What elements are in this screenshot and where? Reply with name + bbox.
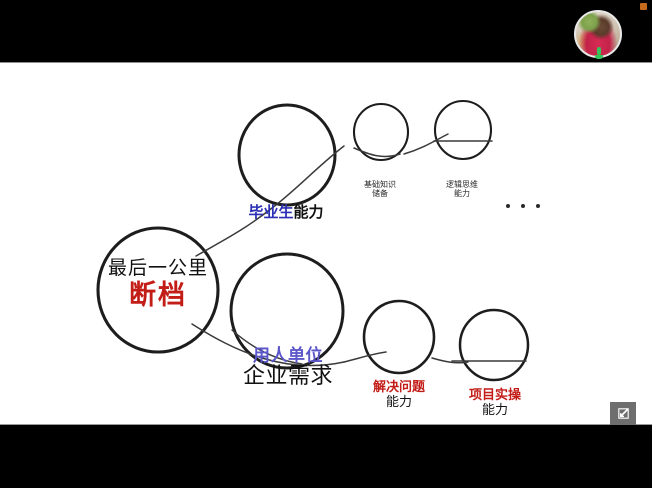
video-bar [0, 0, 652, 62]
node-employer-line1: 用人单位 [234, 347, 342, 365]
ellipsis-dots-icon [506, 204, 540, 208]
expand-button[interactable] [610, 402, 636, 425]
node-base-knowledge: 基础知识 储备 [356, 181, 404, 198]
node-solve-line1: 解决问题 [362, 381, 436, 395]
node-main-line2: 断档 [98, 281, 218, 310]
node-project-practice: 项目实操 能力 [460, 389, 530, 418]
shared-slide[interactable]: 最后一公里 断档 毕业生能力 基础知识 储备 逻辑思维 能力 用人单位 企业需求… [0, 62, 652, 425]
expand-icon [616, 406, 631, 421]
node-main-line1: 最后一公里 [98, 258, 218, 279]
node-employer-line2: 企业需求 [234, 365, 342, 389]
node-problem-solving: 解决问题 能力 [362, 381, 436, 410]
node-logic-line2: 能力 [438, 190, 486, 199]
participant-tile[interactable] [574, 10, 622, 58]
node-logic-thinking: 逻辑思维 能力 [438, 181, 486, 198]
node-base-line2: 储备 [356, 190, 404, 199]
bottom-toolbar [0, 425, 652, 488]
node-proj-line1: 项目实操 [460, 389, 530, 403]
node-solve-line2: 能力 [362, 396, 436, 410]
node-graduate-part1: 毕业生 [248, 203, 293, 221]
node-graduate-ability: 毕业生能力 [240, 204, 332, 220]
node-proj-line2: 能力 [460, 404, 530, 418]
meeting-screen: 沈阳六翼嬉动漫... [0, 0, 652, 488]
node-main-gap: 最后一公里 断档 [98, 258, 218, 310]
node-graduate-part2: 能力 [294, 203, 324, 221]
node-employer-demand: 用人单位 企业需求 [234, 347, 342, 389]
recording-indicator-icon [640, 3, 647, 10]
microphone-active-icon [595, 47, 603, 59]
